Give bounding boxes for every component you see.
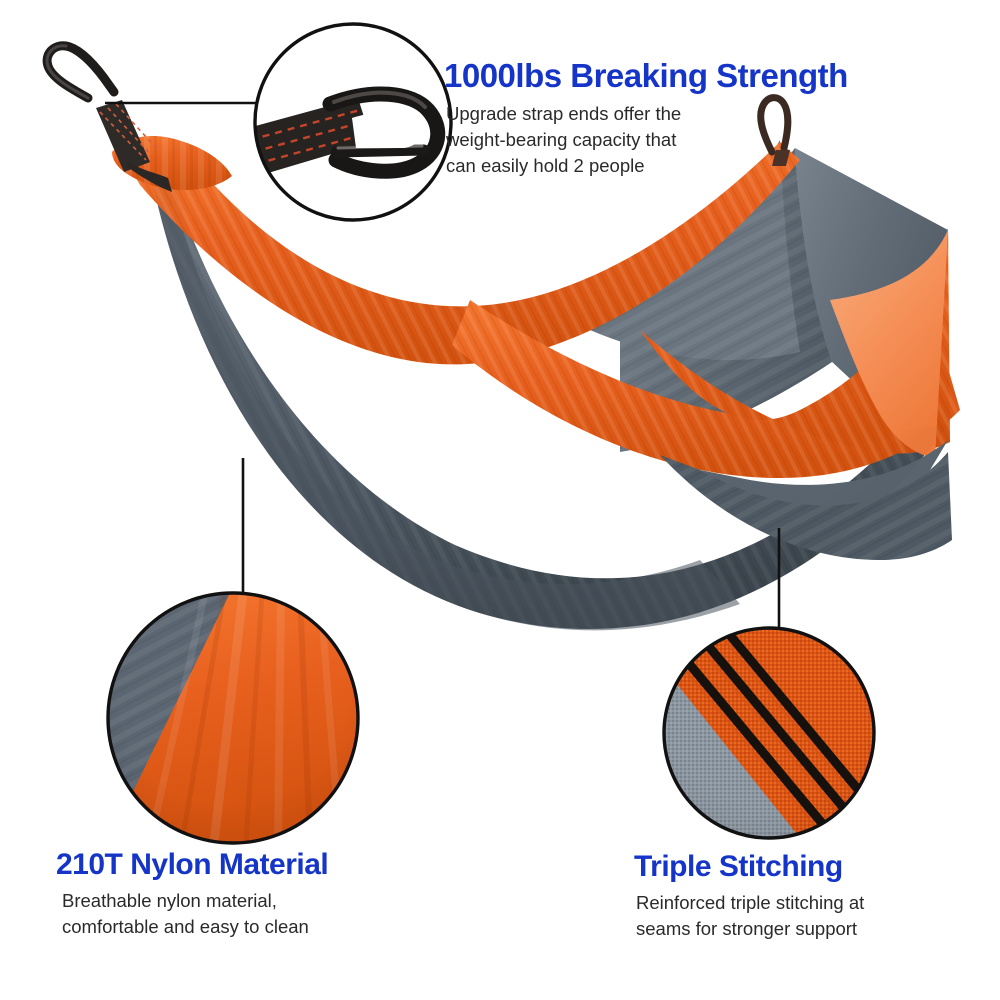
callout-circle-nylon: [108, 593, 358, 843]
infographic-canvas: 1000lbs Breaking Strength Upgrade strap …: [0, 0, 1000, 1000]
right-strap-loop: [761, 98, 790, 166]
feature-nylon-body: Breathable nylon material, comfortable a…: [62, 888, 309, 940]
feature-stitching-heading: Triple Stitching: [634, 848, 843, 885]
feature-stitching-body: Reinforced triple stitching at seams for…: [636, 890, 864, 942]
hammock-illustration: [112, 136, 960, 630]
callout-circle-stitching: [664, 628, 880, 844]
callout-circle-strength: [248, 22, 455, 224]
feature-strength-heading: 1000lbs Breaking Strength: [444, 56, 848, 96]
feature-strength-body: Upgrade strap ends offer the weight-bear…: [446, 101, 681, 179]
feature-nylon-heading: 210T Nylon Material: [56, 846, 328, 883]
